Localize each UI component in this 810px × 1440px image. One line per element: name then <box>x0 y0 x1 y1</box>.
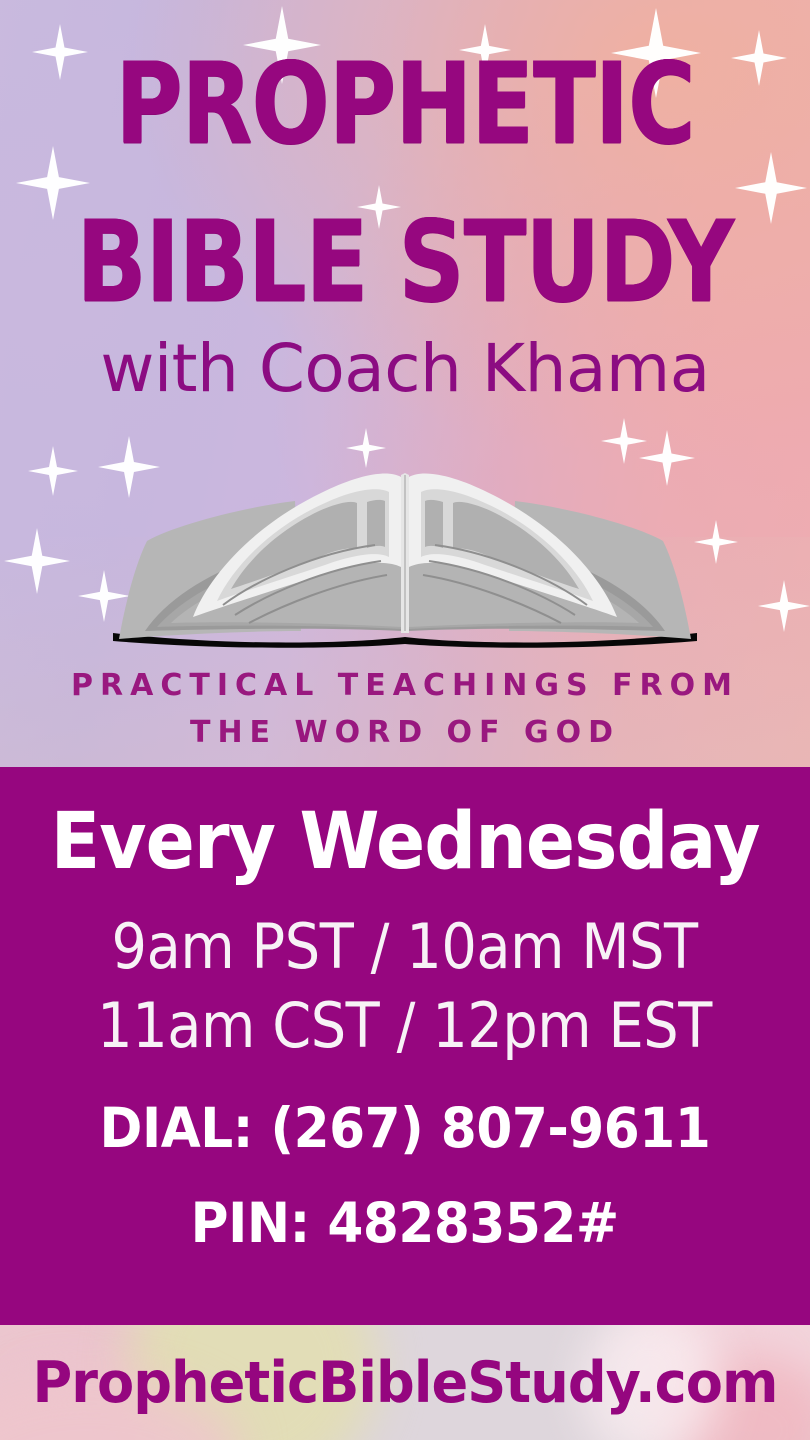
tagline-line-1: PRACTICAL TEACHINGS FROM <box>0 662 810 709</box>
website-link[interactable]: PropheticBibleStudy.com <box>20 1325 790 1440</box>
schedule-day: Every Wednesday <box>51 803 760 881</box>
tagline-line-2: THE WORD OF GOD <box>0 709 810 756</box>
poster-title: PROPHETIC BIBLE STUDY <box>0 46 810 298</box>
schedule-times-line-2: 11am CST / 12pm EST <box>98 994 713 1057</box>
footer-bar: PropheticBibleStudy.com <box>0 1325 810 1440</box>
schedule-panel: Every Wednesday 9am PST / 10am MST 11am … <box>0 767 810 1325</box>
poster-flyer: PROPHETIC BIBLE STUDY with Coach Khama <box>0 0 810 1440</box>
sparkle-star-icon <box>758 580 810 632</box>
poster-subtitle-host: with Coach Khama <box>0 336 810 402</box>
pin-code: PIN: 4828352# <box>191 1196 619 1251</box>
title-line-prophetic: PROPHETIC <box>0 50 810 160</box>
title-line-bible-study: BIBLE STUDY <box>0 208 810 318</box>
sparkle-star-icon <box>4 528 70 594</box>
poster-tagline: PRACTICAL TEACHINGS FROM THE WORD OF GOD <box>0 662 810 757</box>
sparkle-star-icon <box>28 446 78 496</box>
open-book-icon <box>105 455 705 650</box>
schedule-times-line-1: 9am PST / 10am MST <box>112 915 698 978</box>
dial-number[interactable]: DIAL: (267) 807-9611 <box>100 1101 711 1156</box>
